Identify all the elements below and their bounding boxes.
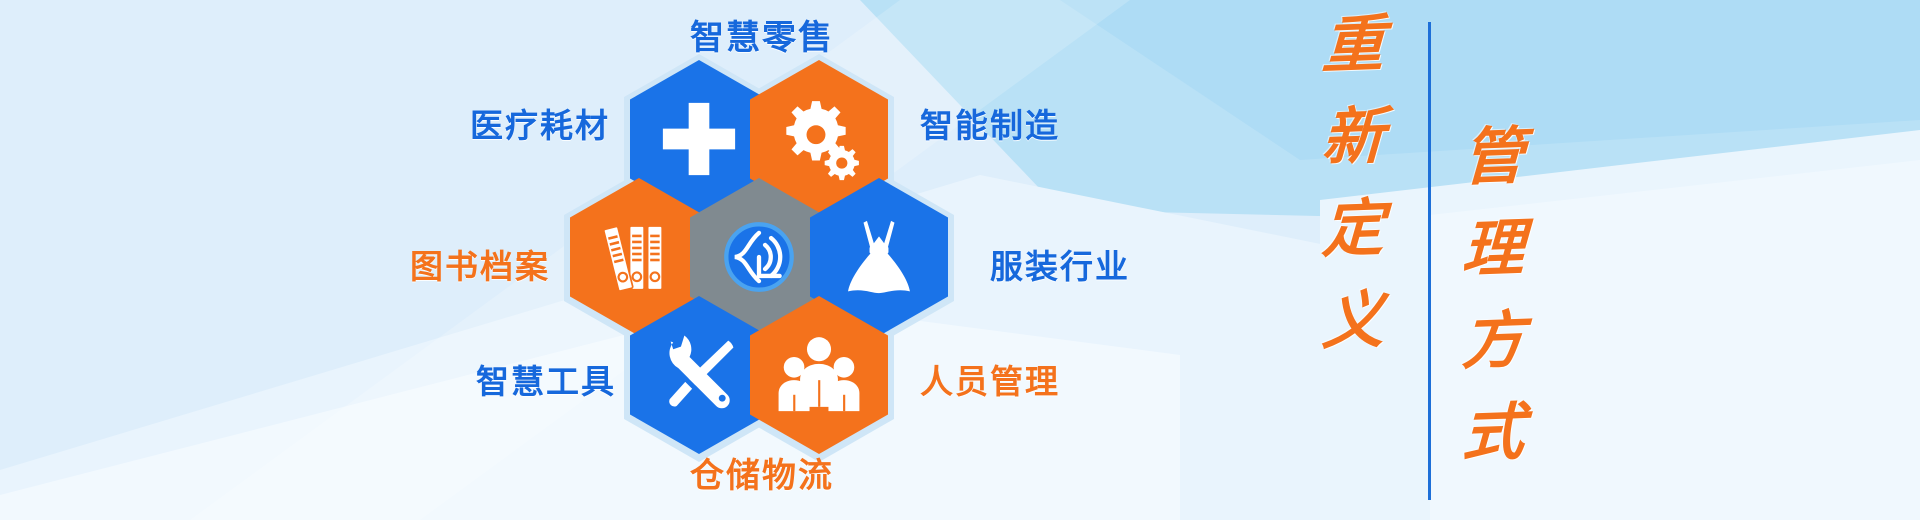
slogan-divider bbox=[1428, 22, 1431, 500]
label-personnel: 人员管理 bbox=[920, 355, 1060, 403]
vertical-calligraphy-slogan: 重 新 定 义 管 理 方 式 bbox=[1300, 0, 1600, 520]
label-retail: 智慧零售 bbox=[690, 10, 834, 59]
industry-hexagon-cluster bbox=[560, 60, 980, 460]
label-archive: 图书档案 bbox=[410, 240, 550, 288]
slogan-left-char-3: 定 bbox=[1321, 197, 1385, 261]
label-manufacturing: 智能制造 bbox=[920, 99, 1060, 147]
medical-cross-icon bbox=[656, 96, 742, 182]
slogan-right-column: 管 理 方 式 bbox=[1462, 126, 1524, 494]
slogan-right-char-3: 方 bbox=[1461, 309, 1525, 373]
label-tools: 智慧工具 bbox=[476, 355, 616, 403]
label-apparel: 服装行业 bbox=[990, 240, 1130, 288]
slogan-left-char-1: 重 bbox=[1321, 13, 1385, 77]
people-group-icon bbox=[776, 332, 862, 418]
wrench-screwdriver-icon bbox=[656, 332, 742, 418]
slogan-right-char-1: 管 bbox=[1461, 125, 1525, 189]
label-medical: 医疗耗材 bbox=[470, 99, 610, 147]
rfid-signal-logo-icon bbox=[716, 214, 802, 300]
label-warehouse: 仓储物流 bbox=[690, 448, 834, 497]
slogan-left-column: 重 新 定 义 bbox=[1322, 14, 1384, 382]
slogan-left-char-4: 义 bbox=[1321, 289, 1385, 353]
dress-garment-icon bbox=[836, 214, 922, 300]
slogan-left-char-2: 新 bbox=[1321, 105, 1385, 169]
binder-folders-icon bbox=[596, 214, 682, 300]
slogan-right-char-2: 理 bbox=[1461, 217, 1525, 281]
banner-root: 智慧零售 医疗耗材 智能制造 图书档案 服装行业 智慧工具 人员管理 仓储物流 … bbox=[0, 0, 1920, 520]
slogan-right-char-4: 式 bbox=[1461, 401, 1525, 465]
gears-cog-icon bbox=[776, 96, 862, 182]
